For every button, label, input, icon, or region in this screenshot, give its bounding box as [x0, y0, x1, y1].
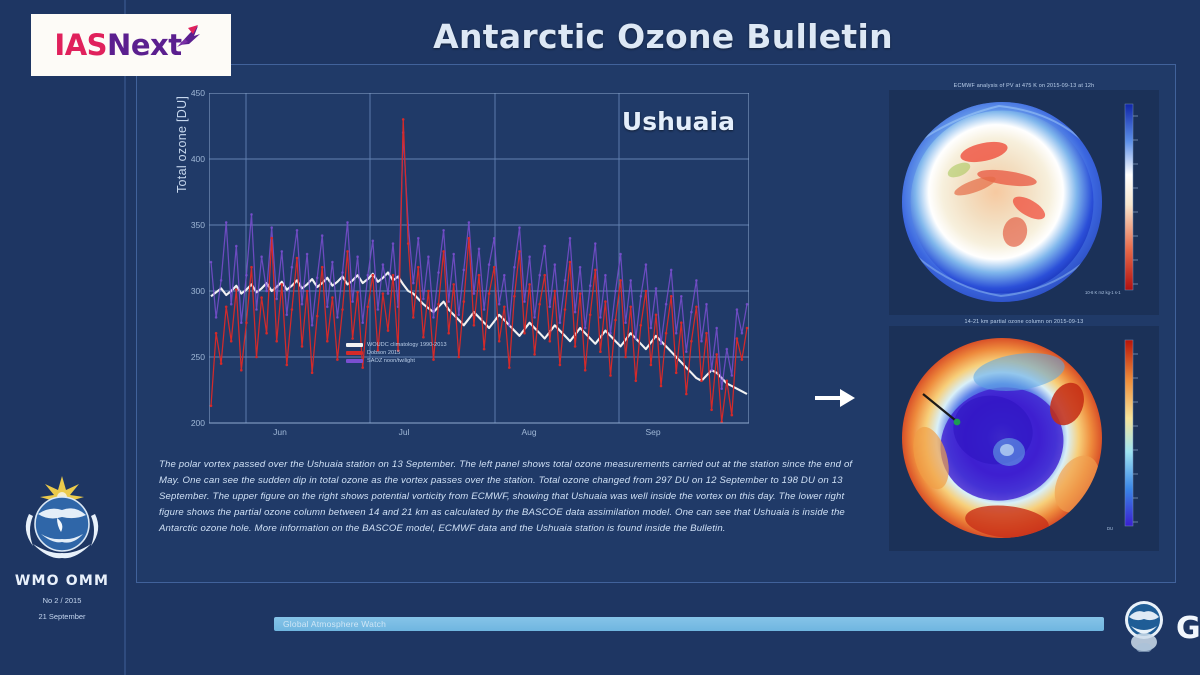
chart-legend: WOUDC climatology 1990-2013Dobson 2015SA…	[341, 338, 452, 368]
wmo-issue-number: No 2 / 2015	[0, 596, 124, 605]
legend-label: Dobson 2015	[367, 349, 400, 357]
slide-root: IASNext Antarctic Ozone Bulletin Ushuaia…	[0, 0, 1200, 675]
chart-y-tick: 400	[171, 154, 205, 164]
chart-plot-area	[209, 93, 749, 438]
brand-name-part1: IAS	[54, 28, 107, 62]
hummingbird-icon	[176, 24, 202, 48]
brand-logo: IASNext	[31, 14, 231, 76]
gaw-wordmark: GAW	[1176, 611, 1200, 646]
legend-swatch-icon	[346, 359, 363, 363]
brand-name-part2: Next	[107, 28, 182, 62]
arrow-right-icon	[813, 383, 857, 413]
pv-colorbar-unit: 10-6 K m2 kg-1 s-1	[1085, 290, 1121, 295]
legend-item: WOUDC climatology 1990-2013	[346, 341, 447, 349]
polar-maps-column: ECMWF analysis of PV at 475 K on 2015-09…	[889, 83, 1159, 551]
legend-swatch-icon	[346, 351, 363, 355]
chart-y-tick: 450	[171, 88, 205, 98]
gaw-globe-icon	[1121, 600, 1167, 657]
bulletin-caption-text: The polar vortex passed over the Ushuaia…	[159, 457, 859, 537]
global-atmosphere-watch-bar: Global Atmosphere Watch	[274, 617, 1104, 631]
map-caption-pv: ECMWF analysis of PV at 475 K on 2015-09…	[889, 83, 1159, 89]
chart-y-axis-label: Total ozone [DU]	[175, 96, 189, 193]
footer-bar-label: Global Atmosphere Watch	[274, 619, 386, 629]
ozone-globe-graphic: DU	[889, 326, 1125, 551]
map-caption-ozone: 14-21 km partial ozone column on 2015-09…	[889, 319, 1159, 325]
potential-vorticity-map: ECMWF analysis of PV at 475 K on 2015-09…	[889, 83, 1159, 315]
wmo-emblem-icon	[9, 553, 115, 570]
page-title: Antarctic Ozone Bulletin	[126, 17, 1200, 56]
chart-y-tick: 200	[171, 418, 205, 428]
ozone-timeseries-chart: Ushuaia Total ozone [DU] 200250300350400…	[153, 85, 763, 445]
wmo-name: WMO OMM	[0, 573, 124, 589]
wmo-block: WMO OMM No 2 / 2015 21 September	[0, 470, 124, 621]
wmo-issue-date: 21 September	[0, 612, 124, 621]
brand-wordmark: IASNext	[54, 28, 181, 62]
legend-label: WOUDC climatology 1990-2013	[367, 341, 447, 349]
legend-item: Dobson 2015	[346, 349, 447, 357]
legend-swatch-icon	[346, 343, 363, 347]
chart-y-tick: 250	[171, 352, 205, 362]
chart-y-tick: 300	[171, 286, 205, 296]
gaw-logo: GAW	[1121, 600, 1200, 657]
bulletin-panel: Ushuaia Total ozone [DU] 200250300350400…	[136, 64, 1176, 583]
ozone-colorbar-unit: DU	[1107, 526, 1113, 531]
chart-y-tick: 350	[171, 220, 205, 230]
pv-globe-graphic: 10-6 K m2 kg-1 s-1	[889, 90, 1125, 315]
legend-item: SAOZ noon/twilight	[346, 357, 447, 365]
legend-label: SAOZ noon/twilight	[367, 357, 415, 365]
slide-body: Antarctic Ozone Bulletin Ushuaia Total o…	[124, 0, 1200, 675]
chart-station-title: Ushuaia	[622, 107, 735, 136]
partial-ozone-column-map: 14-21 km partial ozone column on 2015-09…	[889, 319, 1159, 551]
